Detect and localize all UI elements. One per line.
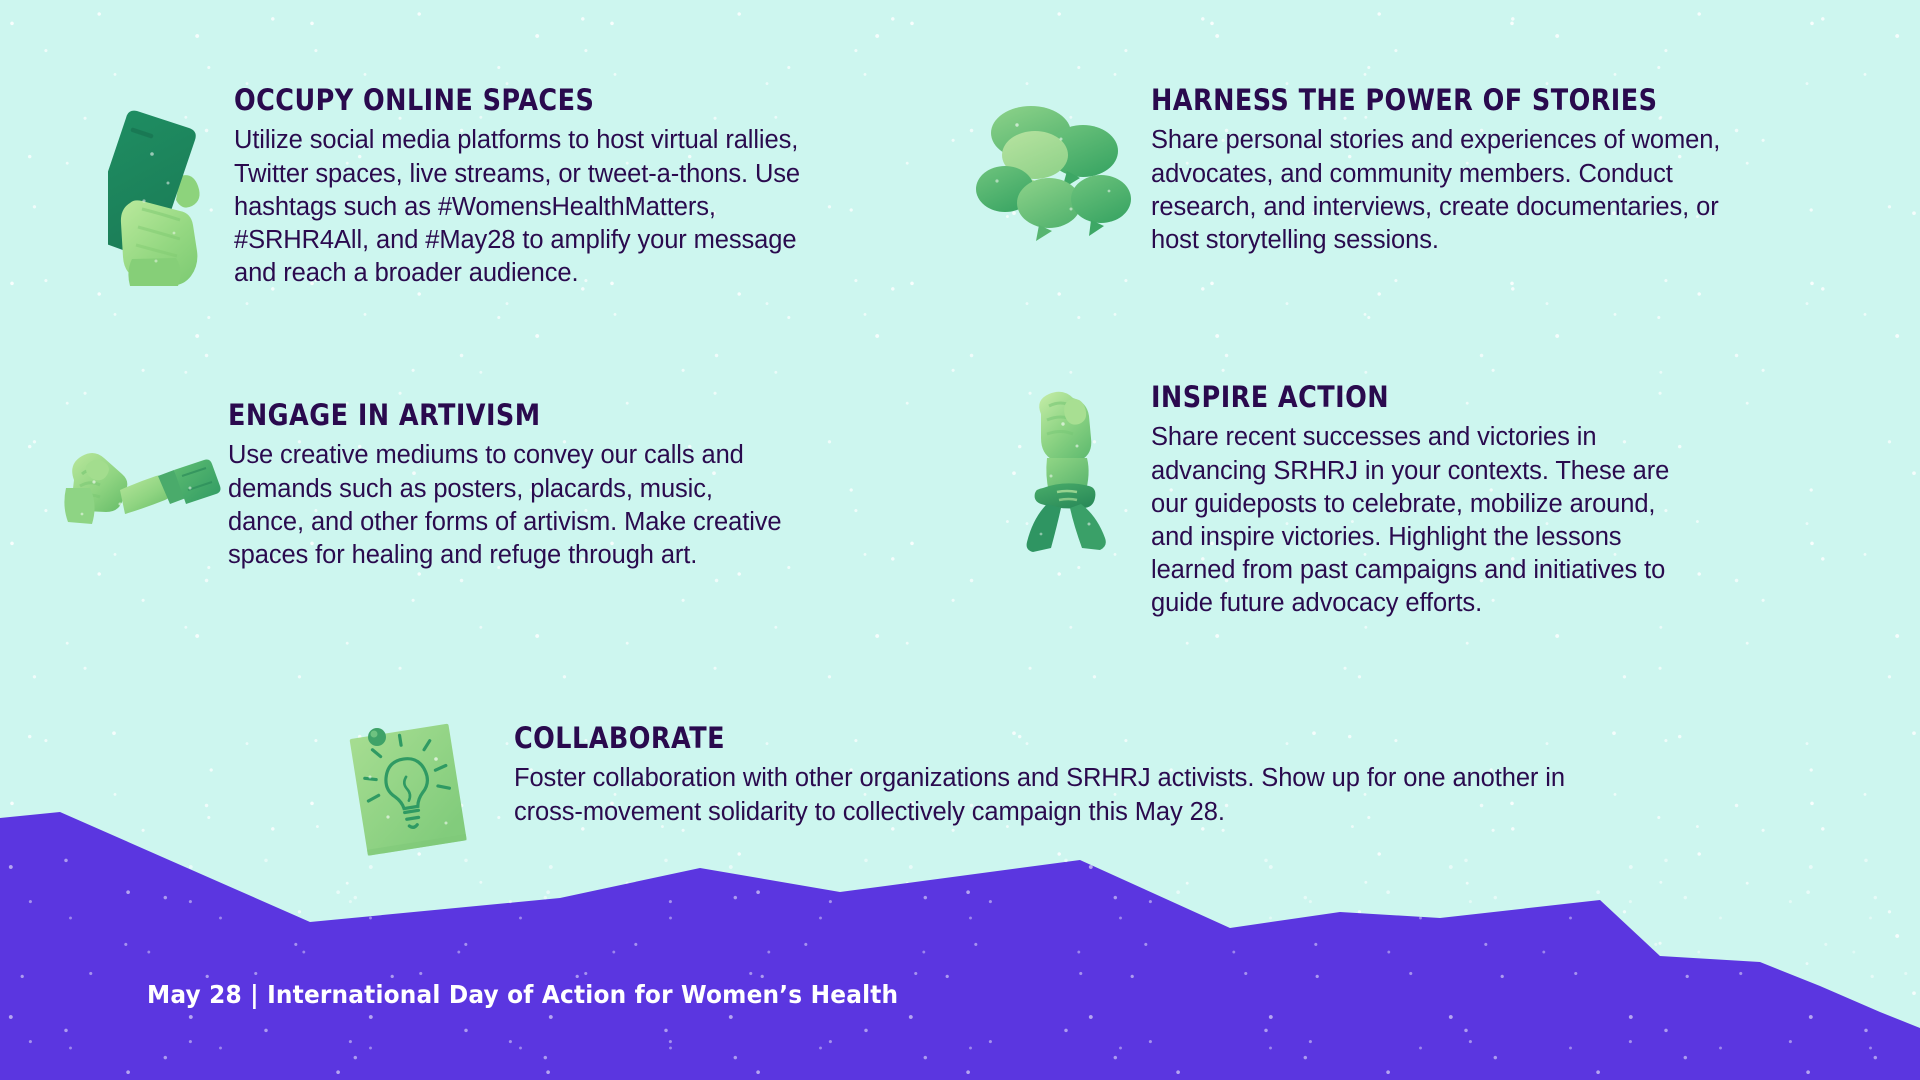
card-occupy-online-spaces: OCCUPY ONLINE SPACES Utilize social medi… <box>108 85 808 290</box>
card-body: Use creative mediums to convey our calls… <box>228 439 782 572</box>
raised-fist-icon <box>1007 384 1127 564</box>
hand-holding-phone-icon <box>108 91 216 286</box>
card-title: INSPIRE ACTION <box>1151 382 1625 412</box>
card-body: Utilize social media platforms to host v… <box>234 124 808 290</box>
card-title: HARNESS THE POWER OF STORIES <box>1151 85 1657 115</box>
card-text-block: OCCUPY ONLINE SPACES Utilize social medi… <box>224 85 808 290</box>
purple-wave-footer <box>0 750 1920 1080</box>
card-engage-in-artivism: ENGAGE IN ARTIVISM Use creative mediums … <box>62 400 782 572</box>
footer-tagline: May 28 | International Day of Action for… <box>147 980 898 1009</box>
hand-with-paintbrush-icon <box>62 430 222 550</box>
card-text-block: HARNESS THE POWER OF STORIES Share perso… <box>1143 85 1726 257</box>
card-body: Share personal stories and experiences o… <box>1151 124 1726 257</box>
card-title: COLLABORATE <box>514 723 1470 753</box>
speech-bubbles-icon <box>975 103 1143 243</box>
card-inspire-action: INSPIRE ACTION Share recent successes an… <box>1010 382 1690 620</box>
card-title: OCCUPY ONLINE SPACES <box>234 85 739 115</box>
card-text-block: ENGAGE IN ARTIVISM Use creative mediums … <box>222 400 782 572</box>
card-text-block: INSPIRE ACTION Share recent successes an… <box>1127 382 1690 620</box>
card-harness-the-power-of-stories: HARNESS THE POWER OF STORIES Share perso… <box>975 85 1675 257</box>
card-body: Share recent successes and victories in … <box>1151 421 1690 620</box>
card-title: ENGAGE IN ARTIVISM <box>228 400 716 430</box>
